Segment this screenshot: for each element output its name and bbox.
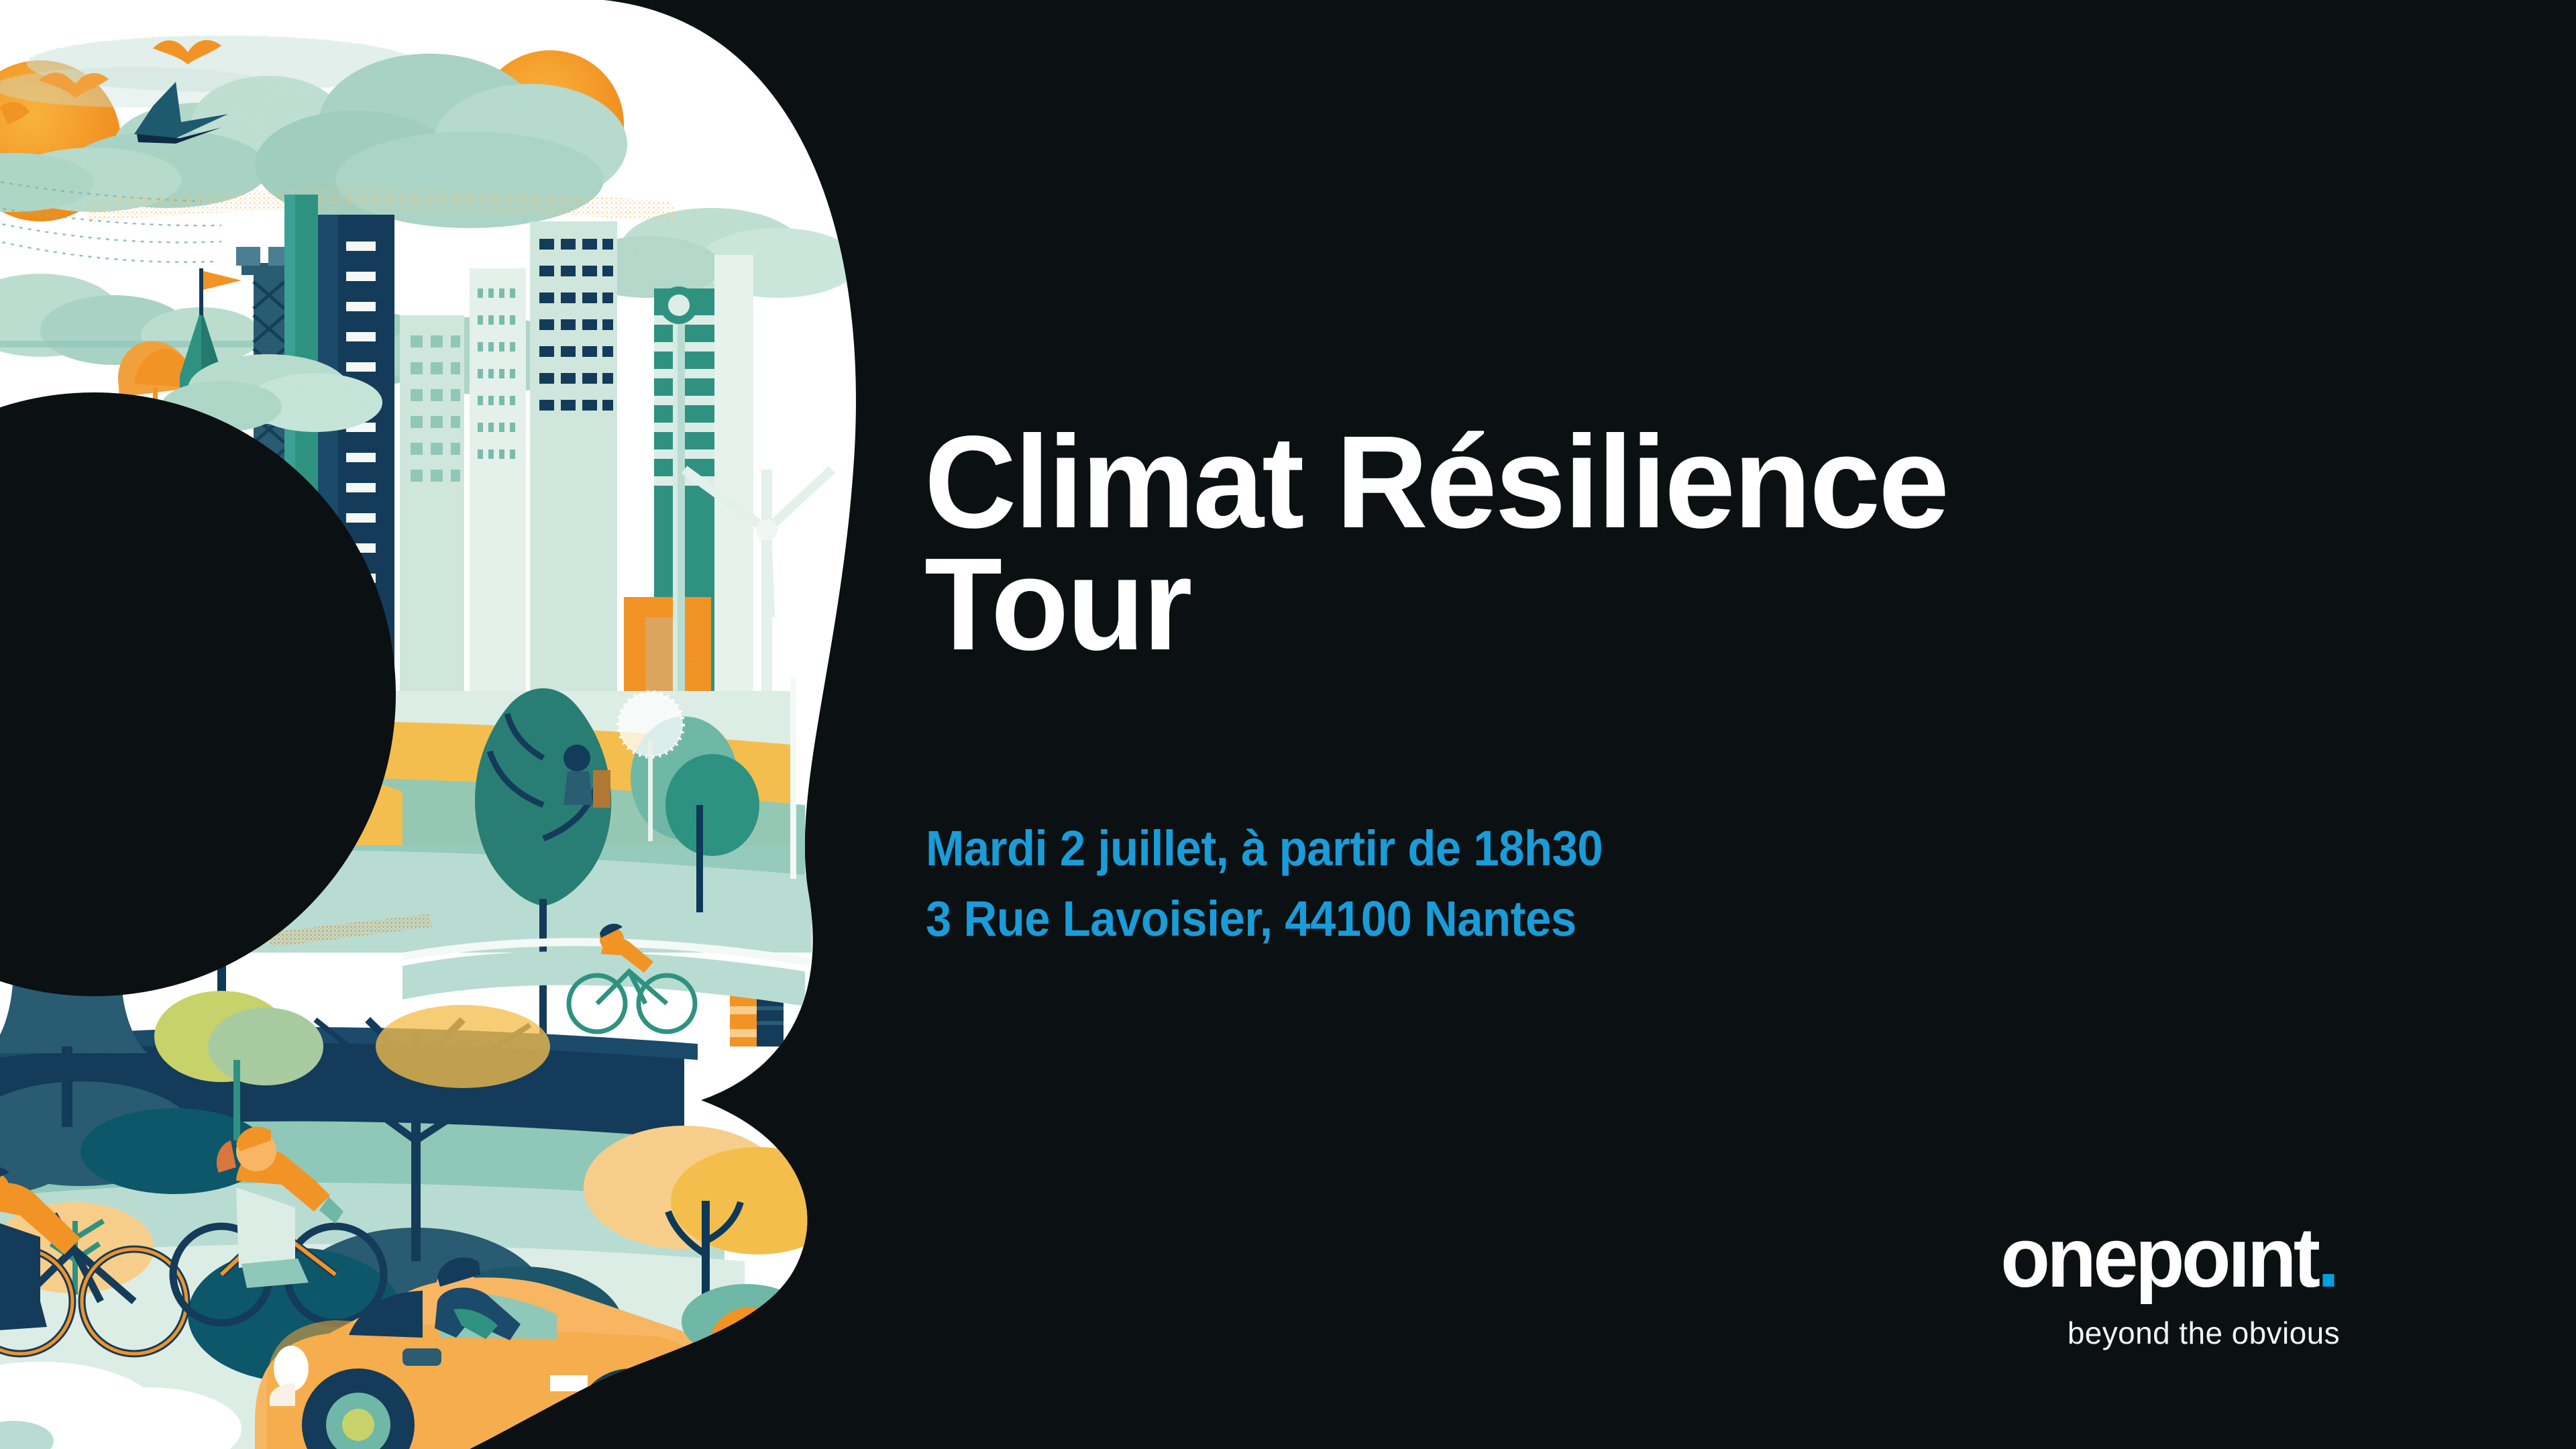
- wordmark-text: onepoınt: [2000, 1210, 2317, 1305]
- onepoint-wordmark: onepoınt.: [2000, 1216, 2340, 1300]
- headline-line-2: Tour: [924, 543, 2265, 665]
- event-details: Mardi 2 juillet, à partir de 18h30 3 Rue…: [926, 813, 1603, 954]
- sustainable-city-illustration: [0, 0, 899, 1449]
- event-datetime: Mardi 2 juillet, à partir de 18h30: [926, 813, 1603, 883]
- poster-canvas: Climat Résilience Tour Mardi 2 juillet, …: [0, 0, 2576, 1449]
- brand-logo: onepoınt. beyond the obvious: [1986, 1216, 2340, 1348]
- page-title: Climat Résilience Tour: [924, 421, 2265, 666]
- event-address: 3 Rue Lavoisier, 44100 Nantes: [926, 883, 1603, 954]
- logo-dot: .: [2317, 1210, 2340, 1305]
- illustration-panel: [0, 0, 899, 1449]
- brand-tagline: beyond the obvious: [1986, 1318, 2340, 1348]
